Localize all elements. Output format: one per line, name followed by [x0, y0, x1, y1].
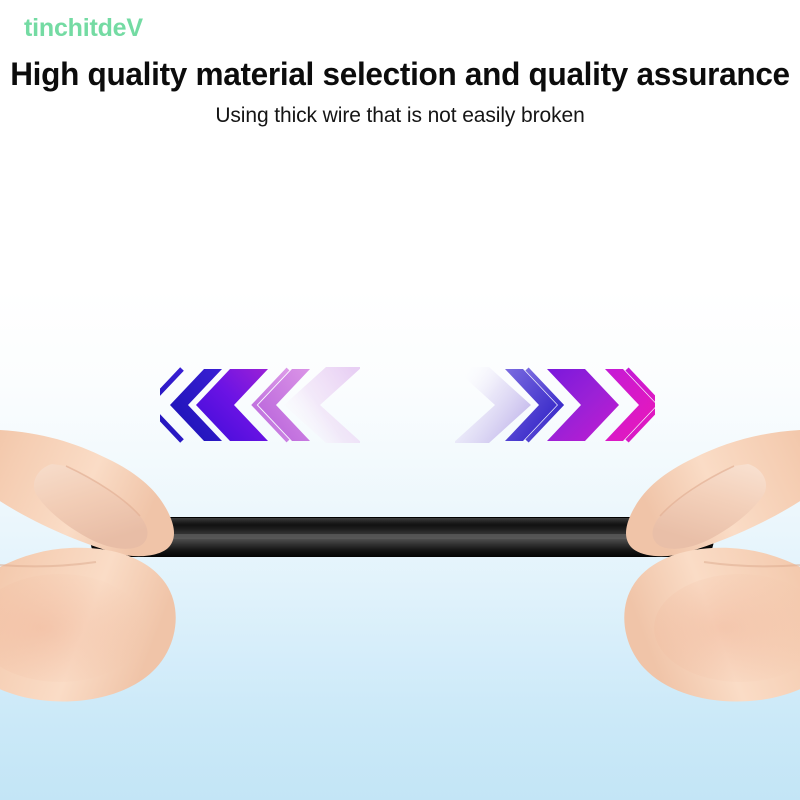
subheadline-text: Using thick wire that is not easily brok…	[0, 104, 800, 128]
right-hand-graphic	[624, 430, 800, 702]
chevron-right-outline-magenta	[605, 369, 655, 441]
chevron-right-solid-purple	[547, 369, 619, 441]
headline-text: High quality material selection and qual…	[6, 56, 794, 93]
chevron-left-outline-blue	[160, 369, 222, 441]
chevron-group-right	[455, 363, 655, 447]
left-hand-graphic	[0, 430, 176, 702]
chevron-left-outline-orchid	[254, 369, 310, 441]
chevron-left-solid-violet	[196, 369, 268, 441]
chevron-band	[0, 363, 800, 447]
product-feature-banner: tinchitdeV High quality material selecti…	[0, 0, 800, 800]
chevron-group-left	[160, 363, 360, 447]
watermark-text: tinchitdeV	[24, 14, 143, 43]
chevron-left-solid-pale	[284, 367, 360, 443]
cable-graphic	[90, 517, 714, 557]
chevron-right-outline-blue	[505, 369, 561, 441]
chevron-right-solid-pale	[455, 367, 531, 443]
